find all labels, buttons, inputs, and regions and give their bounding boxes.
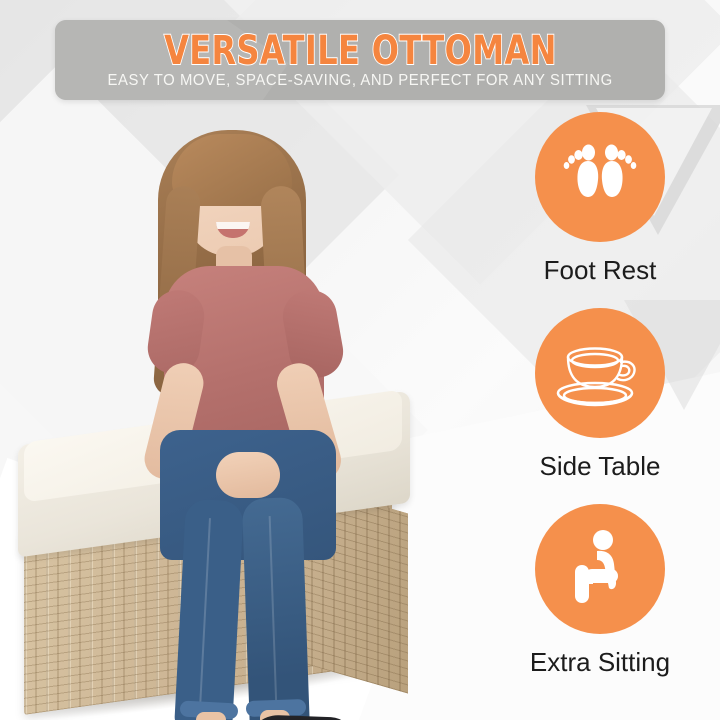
sneaker-upper (248, 714, 353, 720)
footprints-icon (558, 135, 642, 219)
feature-icon-circle (535, 308, 665, 438)
teeth (216, 222, 250, 229)
header-banner: VERSATILE OTTOMAN EASY TO MOVE, SPACE-SA… (55, 20, 665, 100)
banner-subtitle: EASY TO MOVE, SPACE-SAVING, AND PERFECT … (107, 72, 612, 89)
ankle-left (196, 712, 226, 720)
feature-label: Foot Rest (544, 255, 657, 285)
product-photo (0, 100, 470, 720)
model-child (120, 100, 410, 700)
teacup-icon (554, 327, 646, 419)
feature-label: Side Table (540, 451, 661, 481)
feature-list: Foot Rest Side Table (480, 112, 720, 712)
feature-item-extra-sitting: Extra Sitting (480, 504, 720, 677)
feature-item-side-table: Side Table (480, 308, 720, 481)
product-marketing-image: VERSATILE OTTOMAN EASY TO MOVE, SPACE-SA… (0, 0, 720, 720)
feature-icon-circle (535, 112, 665, 242)
banner-title: VERSATILE OTTOMAN (164, 31, 557, 71)
feature-label: Extra Sitting (530, 647, 670, 677)
seated-person-icon (559, 528, 641, 610)
sneaker-right (247, 714, 353, 720)
feature-icon-circle (535, 504, 665, 634)
hands (216, 452, 280, 498)
feature-item-foot-rest: Foot Rest (480, 112, 720, 285)
